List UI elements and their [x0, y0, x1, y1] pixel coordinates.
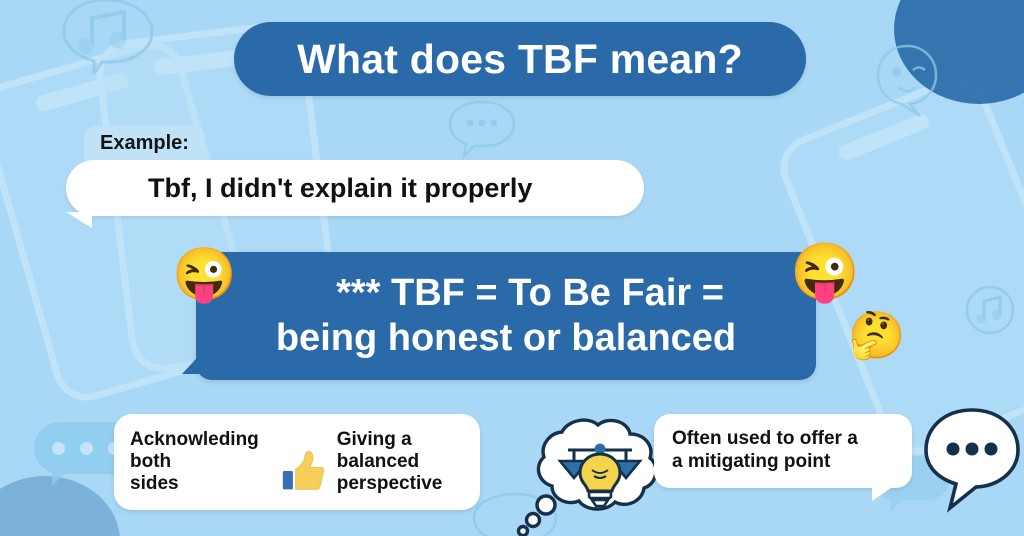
traits-card: Acknowleding both sides Giving a balance…	[114, 414, 480, 510]
example-message-bubble: Tbf, I didn't explain it properly	[66, 160, 644, 216]
winking-tongue-face-emoji: 😜	[790, 244, 860, 300]
trait-column-two: Giving a balanced perspective	[327, 429, 464, 495]
dot	[966, 443, 979, 456]
trait-two-line-3: perspective	[337, 473, 464, 495]
trait-one-line-1: Acknowleding	[130, 429, 281, 451]
wink-face-emoji: 😜	[172, 249, 237, 301]
thought-cloud-scales-lightbulb-icon	[516, 412, 666, 536]
thinking-face-emoji: 🤔	[848, 312, 905, 358]
definition-line-2: being honest or balanced	[276, 317, 736, 360]
music-note-speech-bubble-watermark	[48, 0, 166, 74]
definition-line-1: *** TBF = To Be Fair =	[288, 272, 724, 315]
typing-dot	[52, 442, 65, 455]
bubble-tail	[66, 212, 92, 228]
phone-notch-decoration	[836, 112, 931, 163]
dot	[985, 443, 998, 456]
phone-notch-decoration	[34, 71, 131, 113]
dots-bubble-watermark	[446, 98, 518, 160]
bubble-tail	[52, 472, 66, 486]
example-label-tab: Example:	[84, 126, 205, 163]
mitigation-card: Often used to offer a a mitigating point	[654, 414, 912, 488]
page-title: What does TBF mean?	[297, 36, 743, 83]
winking-face-watermark	[872, 42, 942, 122]
corner-blob-decoration	[0, 476, 120, 536]
three-dots-speech-bubble	[920, 404, 1024, 516]
infographic-canvas: What does TBF mean? Example: Tbf, I didn…	[0, 0, 1024, 536]
trait-two-line-2: balanced	[337, 451, 464, 473]
dot	[947, 443, 960, 456]
mitigation-line-1: Often used to offer a	[672, 428, 912, 451]
corner-blob-decoration	[894, 0, 1024, 104]
trait-column-one: Acknowleding both sides	[130, 429, 281, 495]
mitigation-line-2: a mitigating point	[672, 451, 912, 474]
trait-one-line-3: sides	[130, 473, 281, 495]
definition-text-block: *** TBF = To Be Fair = being honest or b…	[196, 252, 816, 380]
example-message-text: Tbf, I didn't explain it properly	[66, 173, 532, 204]
trait-one-line-2: both	[130, 451, 281, 473]
thumbs-up-icon	[281, 449, 325, 493]
music-note-circle-watermark	[962, 282, 1018, 338]
page-title-bubble: What does TBF mean?	[234, 22, 806, 96]
bubble-tail	[872, 486, 894, 501]
definition-bubble: *** TBF = To Be Fair = being honest or b…	[196, 252, 816, 380]
trait-two-line-1: Giving a	[337, 429, 464, 451]
typing-dot	[80, 442, 93, 455]
